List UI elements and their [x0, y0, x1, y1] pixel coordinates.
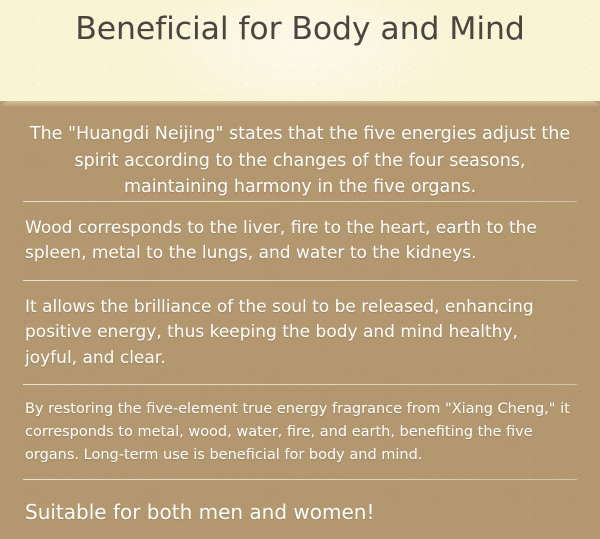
paragraph-soul-brilliance: It allows the brilliance of the soul to … [22, 281, 578, 385]
content-panel: The "Huangdi Neijing" states that the fi… [0, 101, 600, 539]
page-title: Beneficial for Body and Mind [5, 0, 595, 50]
card-header: Beneficial for Body and Mind [0, 0, 600, 101]
info-card: Beneficial for Body and Mind The "Huangd… [0, 0, 600, 539]
paragraph-xiang-cheng-note: By restoring the five-element true energ… [22, 385, 578, 479]
paragraph-intro: The "Huangdi Neijing" states that the fi… [22, 101, 578, 201]
paragraph-five-elements-organs: Wood corresponds to the liver, fire to t… [22, 202, 578, 280]
paragraph-closing: Suitable for both men and women! [22, 480, 578, 526]
content-list: The "Huangdi Neijing" states that the fi… [22, 101, 578, 526]
